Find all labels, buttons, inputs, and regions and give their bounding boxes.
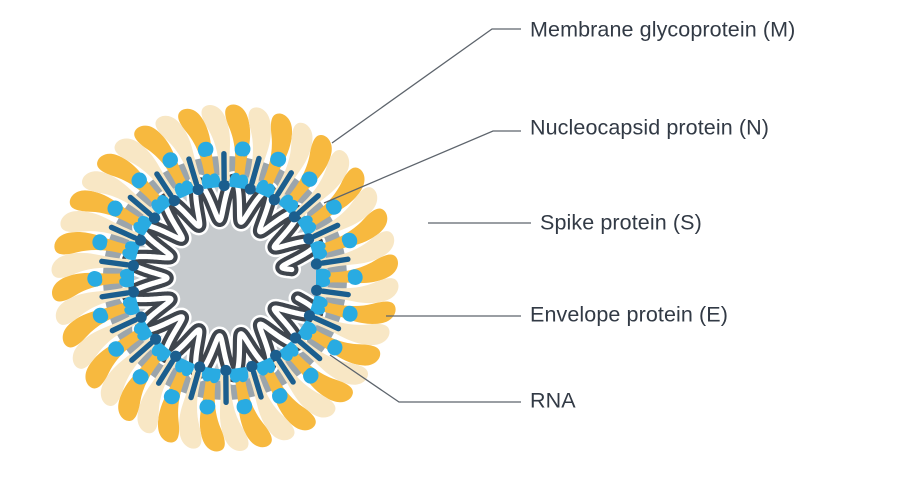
callout-group: Membrane glycoprotein (M) Nucleocapsid p… [324, 18, 795, 413]
callout-spike-protein[interactable]: Spike protein (S) [428, 211, 702, 235]
label-membrane-glycoprotein: Membrane glycoprotein (M) [530, 18, 795, 42]
label-spike-protein: Spike protein (S) [540, 211, 702, 235]
label-rna: RNA [530, 389, 576, 413]
virion-body [50, 103, 399, 452]
diagram-canvas: Membrane glycoprotein (M) Nucleocapsid p… [0, 0, 900, 500]
label-envelope-protein: Envelope protein (E) [530, 303, 728, 327]
callout-nucleocapsid-protein[interactable]: Nucleocapsid protein (N) [324, 116, 769, 203]
coronavirus-diagram: Membrane glycoprotein (M) Nucleocapsid p… [0, 0, 900, 500]
label-nucleocapsid-protein: Nucleocapsid protein (N) [530, 116, 769, 140]
leader-line-membrane-glycoprotein [332, 29, 521, 143]
callout-envelope-protein[interactable]: Envelope protein (E) [386, 303, 728, 327]
